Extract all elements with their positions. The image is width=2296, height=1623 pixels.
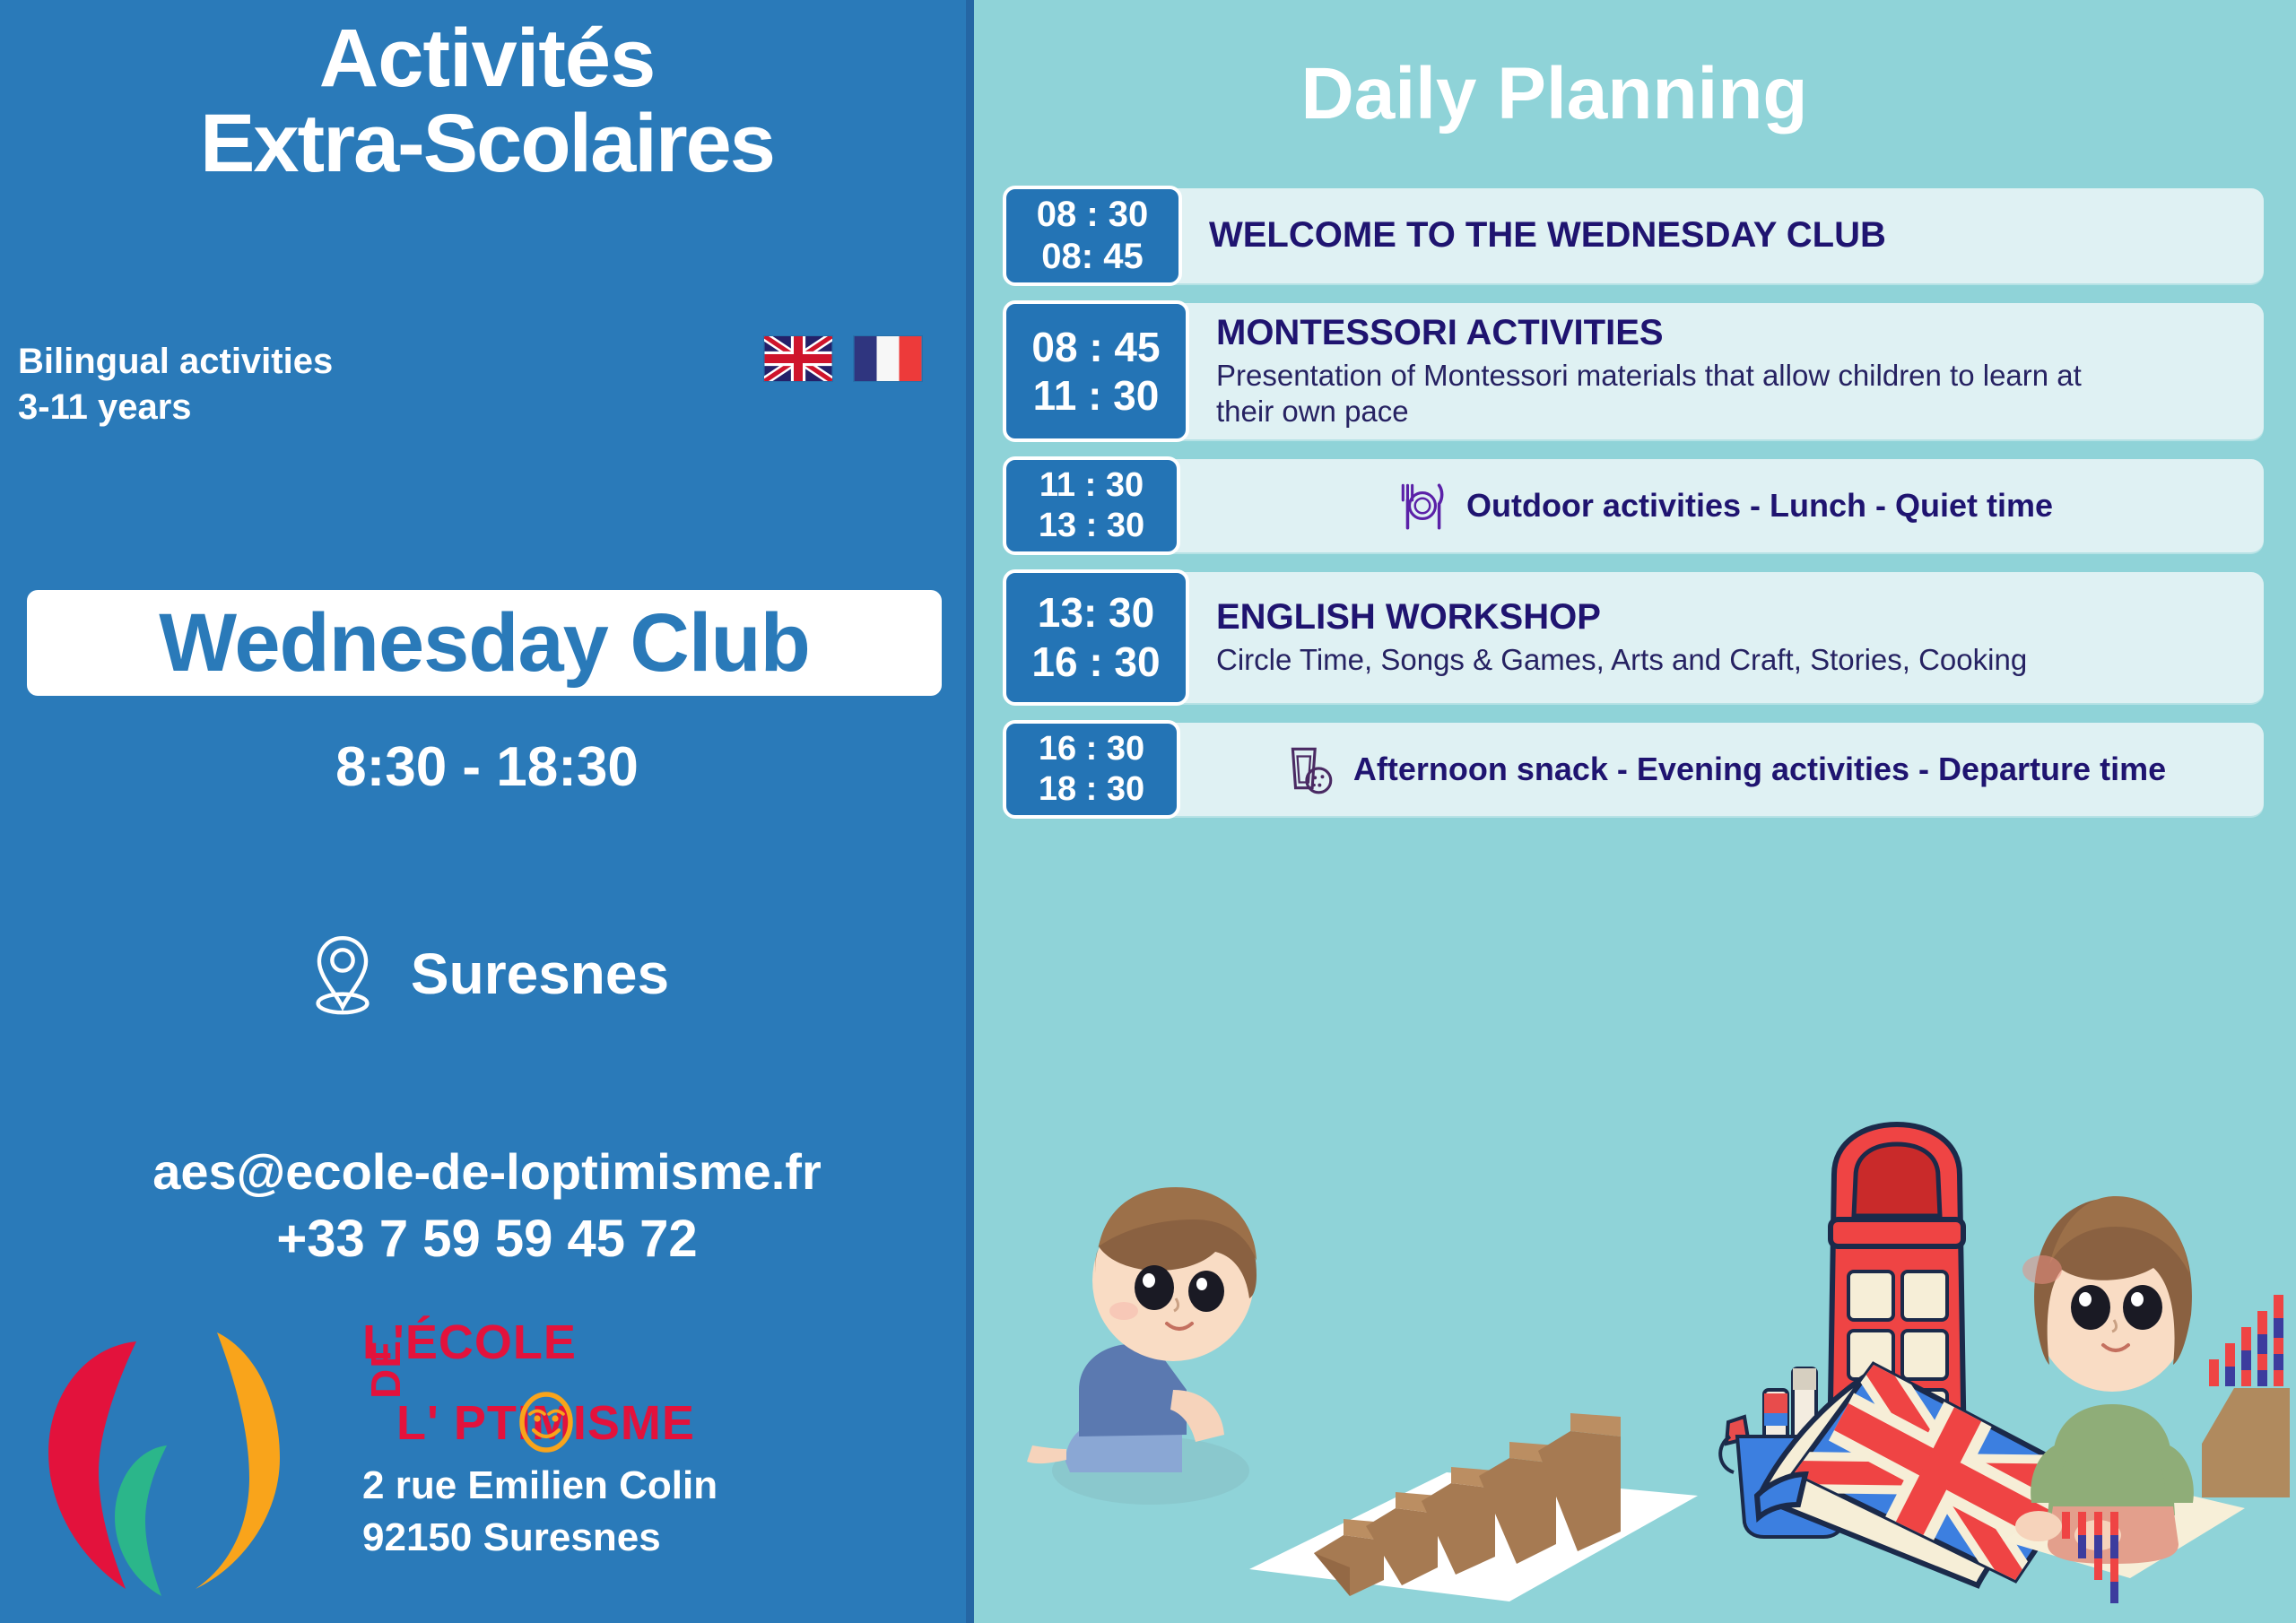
time-box: 13: 30 16 : 30: [1003, 569, 1189, 706]
address-line-1: 2 rue Emilien Colin: [362, 1460, 717, 1512]
school-logo-icon: [32, 1327, 319, 1605]
schedule-list: 08 : 30 08: 45 WELCOME TO THE WEDNESDAY …: [1003, 188, 2264, 836]
row-content: Outdoor activities - Lunch - Quiet time: [1180, 459, 2264, 552]
bilingual-line-1: Bilingual activities: [18, 339, 333, 385]
uk-flag-icon: [764, 336, 832, 381]
time-start: 08 : 30: [1037, 194, 1149, 236]
brand-line-1: L'ÉCOLE: [362, 1318, 954, 1367]
time-end: 13 : 30: [1039, 506, 1144, 546]
time-start: 16 : 30: [1039, 729, 1144, 769]
page-title: Activités Extra-Scolaires: [0, 16, 974, 187]
row-title: Outdoor activities - Lunch - Quiet time: [1466, 487, 2053, 525]
illustration-svg: [974, 1121, 2296, 1623]
time-start: 08 : 45: [1031, 323, 1160, 371]
row-title: ENGLISH WORKSHOP: [1216, 596, 2240, 638]
time-end: 18 : 30: [1039, 769, 1144, 810]
time-end: 11 : 30: [1033, 371, 1160, 420]
row-description: Presentation of Montessori materials tha…: [1216, 358, 2140, 430]
time-start: 11 : 30: [1039, 465, 1144, 506]
girl-with-number-rods: [2003, 1196, 2245, 1603]
brand-line-2-row: DE L' PTIMISME: [362, 1395, 954, 1460]
contact-email[interactable]: aes@ecole-de-loptimisme.fr: [0, 1142, 974, 1201]
poster: Activités Extra-Scolaires Bilingual acti…: [0, 0, 2296, 1623]
time-end: 16 : 30: [1031, 638, 1160, 686]
row-title: Afternoon snack - Evening activities - D…: [1353, 751, 2166, 788]
glass-cookie-icon: [1282, 742, 1337, 797]
brand-de-label: DE: [361, 1340, 410, 1399]
bilingual-line-2: 3-11 years: [18, 385, 333, 430]
contact-phone[interactable]: +33 7 59 59 45 72: [0, 1209, 974, 1269]
france-flag-icon: [854, 336, 922, 381]
boy-with-brown-stair-blocks: [1027, 1187, 1257, 1505]
title-line-1: Activités: [13, 16, 961, 101]
time-end: 08: 45: [1041, 236, 1143, 278]
red-blue-bead-stairs: [2202, 1295, 2290, 1497]
plate-fork-knife-icon: [1395, 478, 1450, 534]
title-line-2: Extra-Scolaires: [13, 101, 961, 187]
schedule-row[interactable]: 08 : 45 11 : 30 MONTESSORI ACTIVITIES Pr…: [1003, 303, 2264, 439]
address-line-2: 92150 Suresnes: [362, 1512, 717, 1564]
row-content: ENGLISH WORKSHOP Circle Time, Songs & Ga…: [1189, 572, 2264, 703]
location-block: Suresnes: [0, 931, 974, 1017]
language-flags: [764, 336, 922, 381]
row-description: Circle Time, Songs & Games, Arts and Cra…: [1216, 642, 2140, 678]
schedule-row[interactable]: 11 : 30 13 : 30 Outdoor activities - Lun…: [1003, 459, 2264, 552]
opening-hours: 8:30 - 18:30: [0, 735, 974, 799]
smiley-face-icon: [517, 1391, 576, 1454]
schedule-row[interactable]: 16 : 30 18 : 30 Afternoon snack - Evenin…: [1003, 723, 2264, 816]
row-content: Afternoon snack - Evening activities - D…: [1180, 723, 2264, 816]
time-box: 16 : 30 18 : 30: [1003, 720, 1180, 819]
club-name-label: Wednesday Club: [159, 602, 810, 684]
daily-planning-panel: Daily Planning 08 : 30 08: 45 WELCOME TO…: [974, 0, 2296, 1623]
row-content: WELCOME TO THE WEDNESDAY CLUB: [1182, 188, 2264, 283]
time-start: 13: 30: [1038, 588, 1154, 637]
schedule-row[interactable]: 13: 30 16 : 30 ENGLISH WORKSHOP Circle T…: [1003, 572, 2264, 703]
brand-wordmark: L'ÉCOLE DE L' PTIMISME 2 rue Emilien Col…: [362, 1318, 954, 1460]
club-name-badge: Wednesday Club: [27, 590, 942, 696]
time-box: 08 : 30 08: 45: [1003, 186, 1182, 286]
time-box: 11 : 30 13 : 30: [1003, 456, 1180, 555]
bilingual-subtitle: Bilingual activities 3-11 years: [18, 339, 333, 430]
panel-divider: [966, 0, 974, 1623]
row-title: WELCOME TO THE WEDNESDAY CLUB: [1209, 214, 2240, 256]
row-content: MONTESSORI ACTIVITIES Presentation of Mo…: [1189, 303, 2264, 439]
brand-block: L'ÉCOLE DE L' PTIMISME 2 rue Emilien Col…: [32, 1318, 947, 1614]
schedule-row[interactable]: 08 : 30 08: 45 WELCOME TO THE WEDNESDAY …: [1003, 188, 2264, 283]
brown-stair-blocks: [1249, 1413, 1698, 1601]
time-box: 08 : 45 11 : 30: [1003, 300, 1189, 442]
map-pin-icon: [305, 931, 380, 1017]
brand-address: 2 rue Emilien Colin 92150 Suresnes: [362, 1460, 717, 1564]
location-label: Suresnes: [411, 941, 669, 1007]
planning-heading: Daily Planning: [974, 52, 2296, 136]
left-info-panel: Activités Extra-Scolaires Bilingual acti…: [0, 0, 974, 1623]
row-title: MONTESSORI ACTIVITIES: [1216, 312, 2240, 354]
montessori-children-illustration: [974, 1121, 2296, 1623]
